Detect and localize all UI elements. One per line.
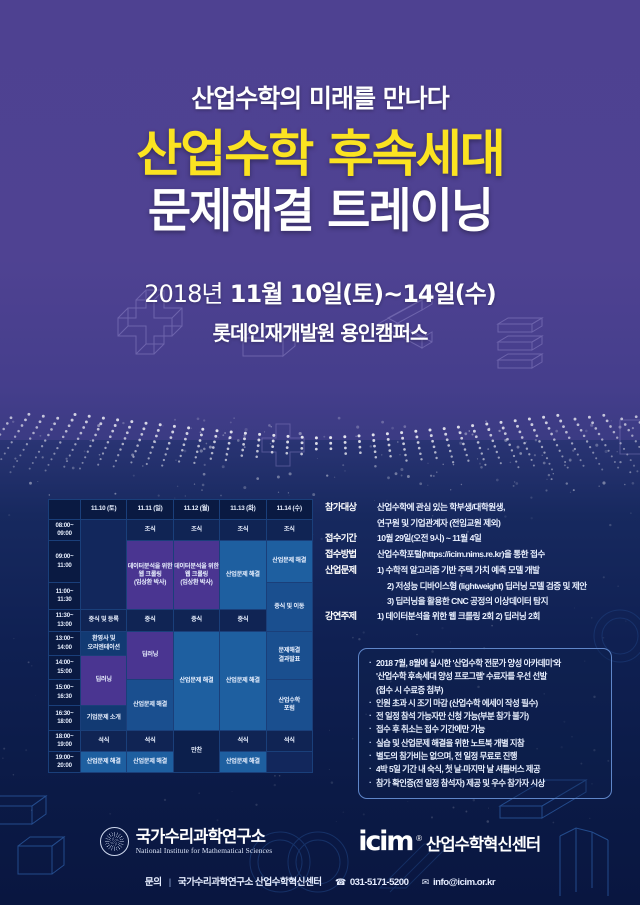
- time-label-4: 13:00~14:00: [49, 632, 81, 656]
- phone-icon: ☎: [335, 877, 346, 887]
- time-label-9: 19:00~20:00: [49, 752, 81, 773]
- nims-name-korean: 국가수리과학연구소: [136, 828, 273, 846]
- notes-box: 2018 7월, 8월에 실시한 '산업수학 전문가 양성 아카데미'와 '산업…: [358, 648, 612, 799]
- info-value-problem-3: 3) 딥러닝을 활용한 CNC 공정의 이상데이터 탐지: [387, 594, 615, 609]
- event-venue: 롯데인재개발원 용인캠퍼스: [0, 317, 640, 346]
- envelope-icon: ✉: [422, 877, 429, 887]
- info-extra-target-0: 연구원 및 기업관계자 (전임교원 제외): [377, 516, 615, 531]
- time-label-3: 11:30~13:00: [49, 610, 81, 632]
- cell-1110-problem-night: 산업문제 해결: [81, 752, 127, 773]
- schedule-table: 11.10 (토) 11.11 (일) 11.12 (월) 11.13 (화) …: [48, 499, 313, 773]
- contact-divider: |: [169, 877, 171, 888]
- cell-1110-lunch-reg: 중식 및 등록: [81, 610, 127, 632]
- time-label-2: 11:00~11:30: [49, 583, 81, 610]
- time-label-5: 14:00~15:00: [49, 656, 81, 680]
- info-row-target: 참가대상 산업수학에 관심 있는 학부생/대학원생,: [325, 500, 615, 515]
- info-label-period: 접수기간: [325, 531, 377, 546]
- cell-1113-problem-pm: 산업문제 해결: [220, 632, 266, 731]
- info-value-problem-1: 1) 수학적 알고리즘 기반 주택 가치 예측 모델 개발: [377, 563, 615, 578]
- cell-1114-dinner: 석식: [266, 731, 312, 752]
- nims-logo: 국가수리과학연구소 National Institute for Mathema…: [100, 827, 273, 856]
- cell-1110-morning: [81, 520, 127, 610]
- event-date: 2018년 11월 10일(토)~14일(수): [0, 274, 640, 309]
- info-label-problems: 산업문제: [325, 563, 377, 578]
- poster-headline: 산업수학의 미래를 만나다 산업수학 후속세대 문제해결 트레이닝 2018년 …: [0, 0, 640, 346]
- list-item: 실습 및 산업문제 해결을 위한 노트북 개별 지참: [369, 737, 602, 750]
- cell-1114-night-empty: [266, 752, 312, 773]
- list-item: 접수 후 취소는 접수 기간에만 가능: [369, 723, 602, 736]
- schedule-day-header-2: 11.12 (월): [173, 500, 219, 520]
- table-row: 18:00~19:00 석식 석식 만찬 석식 석식: [49, 731, 313, 752]
- page-title-line2: 문제해결 트레이닝: [0, 187, 640, 236]
- cell-1112-lunch: 중식: [173, 610, 219, 632]
- cell-1111-problem-pm: 산업문제 해결: [127, 680, 173, 731]
- cell-1110-dinner: 석식: [81, 731, 127, 752]
- list-item: '산업수학 후속세대 양성 프로그램' 수료자를 우선 선발: [369, 670, 602, 683]
- info-row-problems: 산업문제 1) 수학적 알고리즘 기반 주택 가치 예측 모델 개발: [325, 563, 615, 578]
- icim-wordmark: icim: [358, 826, 412, 857]
- cell-1110-welcome: 환영사 및오리엔테이션: [81, 632, 127, 656]
- contact-organization: 국가수리과학연구소 산업수학혁신센터: [178, 877, 322, 888]
- info-value-period: 10월 29일(오전 9시) ~ 11월 4일: [377, 531, 615, 546]
- contact-email[interactable]: info@icim.or.kr: [433, 877, 495, 888]
- schedule-time-header: [49, 500, 81, 520]
- info-row-lectures: 강연주제 1) 데이터분석을 위한 웹 크롤링 2회 2) 딥러닝 2회: [325, 609, 615, 624]
- list-item: 별도의 참가비는 없으며, 전 일정 무료로 진행: [369, 750, 602, 763]
- nims-emblem-icon: [100, 827, 129, 856]
- cell-1111-breakfast: 조식: [127, 520, 173, 541]
- list-item: 전 일정 참석 가능자만 신청 가능(부분 참가 불가): [369, 710, 602, 723]
- cell-1114-forum: 산업수학포럼: [266, 680, 312, 731]
- list-item: 2018 7월, 8월에 실시한 '산업수학 전문가 양성 아카데미'와: [369, 657, 602, 670]
- info-label-method: 접수방법: [325, 547, 377, 562]
- list-item: 참가 확인증(전 일정 참석자) 제공 및 우수 참가자 시상: [369, 777, 602, 790]
- cell-1111-lunch: 중식: [127, 610, 173, 632]
- cell-1111-problem-night: 산업문제 해결: [127, 752, 173, 773]
- icim-logo: icim ® 산업수학혁신센터: [358, 826, 540, 857]
- schedule-day-header-3: 11.13 (화): [220, 500, 266, 520]
- time-label-0: 08:00~09:00: [49, 520, 81, 541]
- info-value-lectures: 1) 데이터분석을 위한 웹 크롤링 2회 2) 딥러닝 2회: [377, 609, 615, 624]
- time-label-6: 15:00~16:30: [49, 680, 81, 706]
- cell-1110-company-intro: 기업문제 소개: [81, 706, 127, 731]
- nims-name-english: National Institute for Mathematical Scie…: [136, 847, 273, 855]
- cell-1112-problem-pm: 산업문제 해결: [173, 632, 219, 731]
- cell-1114-breakfast: 조식: [266, 520, 312, 541]
- table-row: 13:00~14:00 환영사 및오리엔테이션 딥러닝 산업문제 해결 산업문제…: [49, 632, 313, 656]
- time-label-7: 16:30~18:00: [49, 706, 81, 731]
- cell-1112-breakfast: 조식: [173, 520, 219, 541]
- icim-name-korean: 산업수학혁신센터: [426, 831, 540, 855]
- table-row: 08:00~09:00 조식 조식 조식 조식: [49, 520, 313, 541]
- event-date-year: 2018년: [144, 280, 222, 308]
- cell-1113-problem-am: 산업문제 해결: [220, 541, 266, 610]
- time-label-1: 09:00~11:00: [49, 541, 81, 583]
- kicker-text: 산업수학의 미래를 만나다: [0, 79, 640, 115]
- cell-1113-breakfast: 조식: [220, 520, 266, 541]
- info-label-target: 참가대상: [325, 500, 377, 515]
- info-block: 참가대상 산업수학에 관심 있는 학부생/대학원생, 연구원 및 기업관계자 (…: [325, 500, 615, 625]
- schedule-header-row: 11.10 (토) 11.11 (일) 11.12 (월) 11.13 (화) …: [49, 500, 313, 520]
- schedule-day-header-1: 11.11 (일): [127, 500, 173, 520]
- info-value-method[interactable]: 산업수학포털(https://icim.nims.re.kr)을 통한 접수: [377, 547, 615, 562]
- list-item: 인원 초과 시 조기 마감 (산업수학 에세이 작성 필수): [369, 697, 602, 710]
- schedule-day-header-0: 11.10 (토): [81, 500, 127, 520]
- contact-bar: 문의 | 국가수리과학연구소 산업수학혁신센터 ☎ 031-5171-5200 …: [0, 874, 640, 888]
- list-item: (접수 시 수료증 첨부): [369, 684, 602, 697]
- info-row-method[interactable]: 접수방법 산업수학포털(https://icim.nims.re.kr)을 통한…: [325, 547, 615, 562]
- cell-1111-webcrawling: 데이터분석을 위한 웹 크롤링 (임상환 박사): [127, 541, 173, 610]
- cell-1113-problem-night: 산업문제 해결: [220, 752, 266, 773]
- poster-root: 산업수학의 미래를 만나다 산업수학 후속세대 문제해결 트레이닝 2018년 …: [0, 0, 640, 905]
- info-value-problem-2: 2) 저성능 디바이스형 (lightweight) 딥러닝 모델 검증 및 제…: [387, 579, 615, 594]
- cell-1112-webcrawling: 데이터분석을 위한 웹 크롤링 (임상환 박사): [173, 541, 219, 610]
- info-label-lectures: 강연주제: [325, 609, 377, 624]
- cell-1111-dinner: 석식: [127, 731, 173, 752]
- cell-1114-problem-am: 산업문제 해결: [266, 541, 312, 583]
- contact-label: 문의: [145, 877, 162, 888]
- cell-1113-lunch: 중식: [220, 610, 266, 632]
- cell-1110-deeplearning: 딥러닝: [81, 656, 127, 706]
- time-label-8: 18:00~19:00: [49, 731, 81, 752]
- list-item: 4박 5일 기간 내 숙식, 첫 날-마지막 날 셔틀버스 제공: [369, 763, 602, 776]
- cell-1114-results: 문제해결결과발표: [266, 632, 312, 680]
- info-value-target: 산업수학에 관심 있는 학부생/대학원생,: [377, 500, 615, 515]
- footer-logos: 국가수리과학연구소 National Institute for Mathema…: [0, 826, 640, 857]
- page-title-line1: 산업수학 후속세대: [0, 128, 640, 181]
- cell-1111-deeplearning: 딥러닝: [127, 632, 173, 680]
- event-date-range: 11월 10일(토)~14일(수): [230, 280, 496, 308]
- cell-1114-closing: 중식 및 이동: [266, 583, 312, 632]
- nims-logo-text: 국가수리과학연구소 National Institute for Mathema…: [136, 828, 273, 855]
- contact-phone[interactable]: 031-5171-5200: [350, 877, 409, 888]
- info-row-period: 접수기간 10월 29일(오전 9시) ~ 11월 4일: [325, 531, 615, 546]
- cell-1113-dinner: 석식: [220, 731, 266, 752]
- registered-mark-icon: ®: [416, 834, 422, 843]
- cell-1112-banquet: 만찬: [173, 731, 219, 773]
- schedule-day-header-4: 11.14 (수): [266, 500, 312, 520]
